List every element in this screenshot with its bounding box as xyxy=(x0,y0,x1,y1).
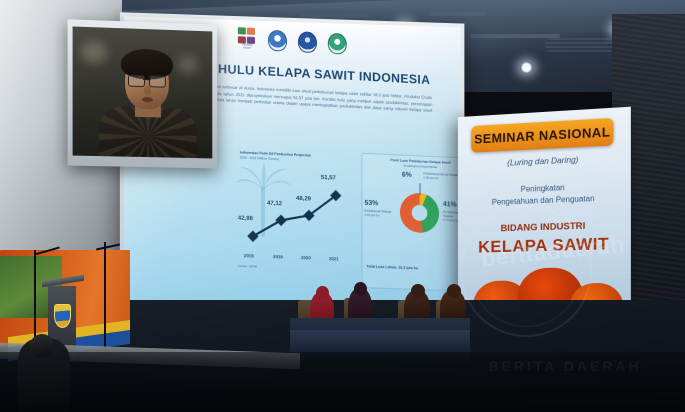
banner-mode: (Luring dan Daring) xyxy=(458,152,631,170)
panelist-head xyxy=(316,286,329,300)
banner-headline-pill: SEMINAR NASIONAL xyxy=(471,118,613,153)
lectern-emblem-icon xyxy=(54,304,71,328)
remote-speaker-video xyxy=(73,26,213,158)
panelist-head xyxy=(447,284,461,298)
line-chart-source: Sumber: GAPKI xyxy=(238,265,257,269)
line-chart-value-2021: 51,57 xyxy=(321,175,336,182)
speaker-nose xyxy=(144,86,151,95)
ceiling-vent xyxy=(300,14,370,18)
line-chart-tick-2019: 2019 xyxy=(273,254,283,259)
line-chart-subtitle: 2018 - 2021 (Million Tonnes) xyxy=(240,155,279,161)
microphone-stand xyxy=(104,242,106,362)
screenshot-root: DEWANSAWIT KONDISI HULU KELAPA SAWIT IND… xyxy=(0,0,685,412)
donut-amount-rakyat: 6,94 juta ha xyxy=(364,212,379,217)
ceiling-grill xyxy=(545,38,615,52)
speaker-glasses-icon xyxy=(128,75,166,86)
banner-headline: SEMINAR NASIONAL xyxy=(471,118,613,153)
ceiling-vent xyxy=(430,12,485,16)
ceiling-spotlight xyxy=(520,62,533,73)
slide-logo-1-label: DEWANSAWIT xyxy=(238,44,257,51)
slide-logo-3-icon xyxy=(298,31,317,53)
video-background-blur xyxy=(177,54,199,75)
donut-value-negara: 6% xyxy=(402,171,412,180)
video-inset-frame xyxy=(68,19,218,168)
line-chart-tick-2020: 2020 xyxy=(301,256,311,261)
panelist-head xyxy=(411,284,425,298)
ceiling-vent xyxy=(470,34,560,38)
video-background-blur xyxy=(81,41,107,64)
donut-amount-negara: 0,98 juta ha xyxy=(423,176,438,181)
line-chart-plot: 42,88 47,12 48,29 51,57 2018 2019 2020 2… xyxy=(236,162,348,265)
speaker-mouth xyxy=(142,97,153,102)
slide-logo-2-icon xyxy=(268,30,287,52)
donut-leader-line xyxy=(420,184,421,196)
slide-logo-row: DEWANSAWIT xyxy=(238,27,347,54)
donut-label-rakyat: 53% Perkebunan Rakyat 6,94 juta ha xyxy=(364,199,397,218)
foreground-attendee-head xyxy=(30,334,54,358)
slide-logo-4-icon xyxy=(328,33,347,55)
donut-chart-footer: Total Luas Lahan: 16,3 juta ha xyxy=(366,265,417,271)
line-chart-tick-2018: 2018 xyxy=(244,253,254,258)
line-chart-value-2018: 42,88 xyxy=(238,216,253,223)
line-chart-value-2020: 48,29 xyxy=(296,196,311,203)
line-chart: Indonesian Palm Oil Production Projectio… xyxy=(236,147,352,286)
donut-amount-swasta: 6,72 juta ha xyxy=(443,217,458,222)
slide-logo-1-icon: DEWANSAWIT xyxy=(238,27,257,50)
donut-legend-negara: Perkebunan Besar Negara 0,98 juta ha xyxy=(423,172,460,183)
donut-label-negara: 6% xyxy=(402,171,412,180)
line-chart-tick-2021: 2021 xyxy=(329,257,339,262)
foreground-shadow xyxy=(0,352,685,412)
panelist-head xyxy=(354,282,367,296)
line-chart-value-2019: 47,12 xyxy=(267,201,282,208)
donut-chart-subtitle: berdasarkan kepemilikan xyxy=(404,163,438,168)
